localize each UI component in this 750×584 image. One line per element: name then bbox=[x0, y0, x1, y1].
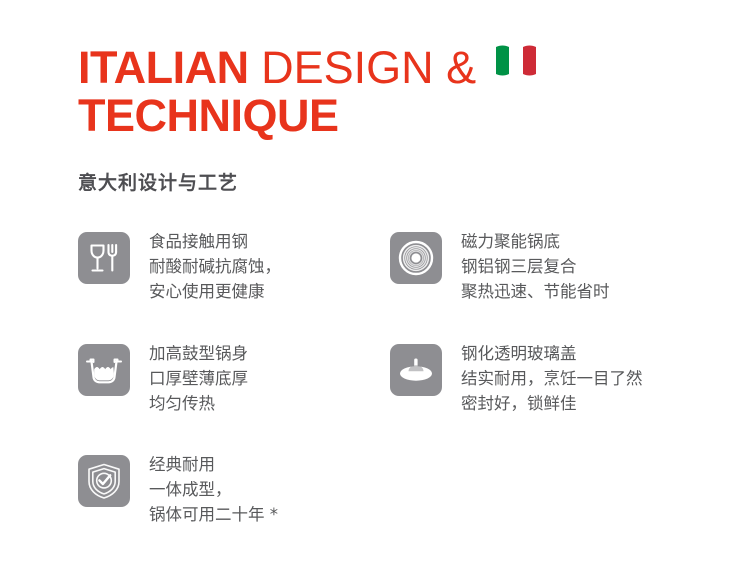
feature-line: 锅体可用二十年 * bbox=[149, 502, 278, 527]
feature-line: 加高鼓型锅身 bbox=[149, 341, 248, 366]
feature-line: 口厚壁薄底厚 bbox=[149, 366, 248, 391]
feature-item-glass-lid: 钢化透明玻璃盖 结实耐用，烹饪一目了然 密封好，锁鲜佳 bbox=[390, 341, 643, 416]
shield-check-icon bbox=[78, 455, 130, 507]
feature-text: 钢化透明玻璃盖 结实耐用，烹饪一目了然 密封好，锁鲜佳 bbox=[461, 341, 643, 416]
feature-line: 钢铝钢三层复合 bbox=[461, 254, 610, 279]
feature-list: 食品接触用钢 耐酸耐碱抗腐蚀， 安心使用更健康 加高鼓型锅身 bbox=[0, 0, 750, 584]
food-safe-glass-fork-icon bbox=[78, 232, 130, 284]
induction-base-rings-icon bbox=[390, 232, 442, 284]
glass-lid-icon bbox=[390, 344, 442, 396]
feature-line: 食品接触用钢 bbox=[149, 229, 281, 254]
feature-item-pot-body: 加高鼓型锅身 口厚壁薄底厚 均匀传热 bbox=[78, 341, 248, 416]
feature-text: 磁力聚能锅底 钢铝钢三层复合 聚热迅速、节能省时 bbox=[461, 229, 610, 304]
deep-pot-body-icon bbox=[78, 344, 130, 396]
feature-text: 食品接触用钢 耐酸耐碱抗腐蚀， 安心使用更健康 bbox=[149, 229, 281, 304]
feature-line: 聚热迅速、节能省时 bbox=[461, 279, 610, 304]
feature-line: 密封好，锁鲜佳 bbox=[461, 391, 643, 416]
feature-text: 加高鼓型锅身 口厚壁薄底厚 均匀传热 bbox=[149, 341, 248, 416]
feature-item-durability: 经典耐用 一体成型， 锅体可用二十年 * bbox=[78, 452, 278, 527]
feature-item-food-safe-steel: 食品接触用钢 耐酸耐碱抗腐蚀， 安心使用更健康 bbox=[78, 229, 281, 304]
feature-line: 钢化透明玻璃盖 bbox=[461, 341, 643, 366]
feature-item-induction-base: 磁力聚能锅底 钢铝钢三层复合 聚热迅速、节能省时 bbox=[390, 229, 610, 304]
feature-line: 耐酸耐碱抗腐蚀， bbox=[149, 254, 281, 279]
feature-line: 磁力聚能锅底 bbox=[461, 229, 610, 254]
feature-line: 经典耐用 bbox=[149, 452, 278, 477]
promo-banner: ITALIAN DESIGN & TECHNIQUE 意大利设计与工艺 bbox=[0, 0, 750, 584]
feature-text: 经典耐用 一体成型， 锅体可用二十年 * bbox=[149, 452, 278, 527]
feature-line: 结实耐用，烹饪一目了然 bbox=[461, 366, 643, 391]
feature-line: 安心使用更健康 bbox=[149, 279, 281, 304]
feature-line: 一体成型， bbox=[149, 477, 278, 502]
feature-line: 均匀传热 bbox=[149, 391, 248, 416]
